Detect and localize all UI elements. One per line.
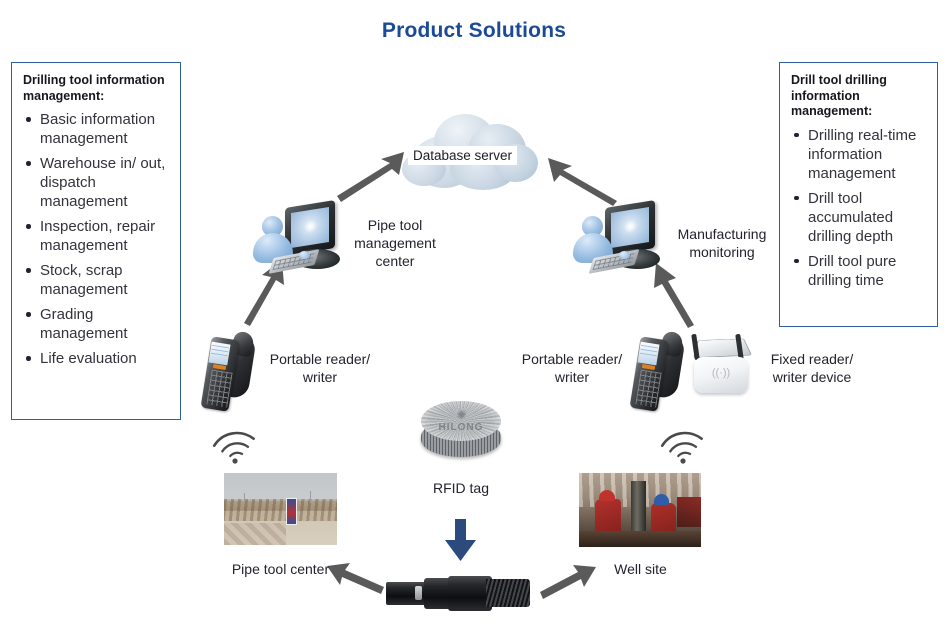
left-box-list: Basic information management Warehouse i… <box>23 110 170 368</box>
portable-reader-writer-label-right: Portable reader/ writer <box>518 350 626 386</box>
workstation-icon <box>572 203 664 279</box>
workstation-icon <box>252 203 344 279</box>
rfid-tag-label: RFID tag <box>411 479 511 497</box>
cloud-icon: Database server <box>398 110 546 194</box>
drill-tool-joint-photo <box>386 571 534 619</box>
right-box-heading: Drill tool drilling information manageme… <box>791 73 927 120</box>
list-item: Life evaluation <box>23 349 170 368</box>
wifi-signal-icon <box>659 420 709 464</box>
fixed-reader-icon: ((·)) <box>690 331 752 401</box>
well-site-photo <box>579 473 701 547</box>
list-item: Drill tool pure drilling time <box>791 252 927 290</box>
list-item: Basic information management <box>23 110 170 148</box>
list-item: Inspection, repair management <box>23 217 170 255</box>
drilling-tool-information-management-box: Drilling tool information management: Ba… <box>11 62 181 420</box>
drill-tool-drilling-information-management-box: Drill tool drilling information manageme… <box>779 62 938 327</box>
arrow-ws-left-to-cloud <box>337 152 404 202</box>
wifi-signal-icon <box>211 420 261 464</box>
rfid-tag-brand: HILONG <box>419 422 503 433</box>
rfid-tag-icon: ✺ HILONG <box>419 395 503 467</box>
manufacturing-monitoring-label: Manufacturing monitoring <box>666 225 778 261</box>
portable-reader-writer-label-left: Portable reader/ writer <box>266 350 374 386</box>
list-item: Grading management <box>23 305 170 343</box>
handheld-reader-icon <box>204 330 256 414</box>
fixed-reader-writer-device-label: Fixed reader/ writer device <box>758 350 866 386</box>
well-site-label: Well site <box>588 560 693 578</box>
pipe-tool-center-label: Pipe tool center <box>213 560 348 578</box>
page-title: Product Solutions <box>0 19 948 43</box>
list-item: Drill tool accumulated drilling depth <box>791 189 927 246</box>
handheld-reader-icon <box>633 330 685 414</box>
pipe-yard-photo <box>224 473 337 545</box>
list-item: Stock, scrap management <box>23 261 170 299</box>
arrow-cloud-to-ws-right <box>548 158 617 206</box>
database-server-label: Database server <box>408 146 517 165</box>
list-item: Drilling real-time information managemen… <box>791 126 927 183</box>
rfid-logo-icon: ((·)) <box>710 367 732 379</box>
list-item: Warehouse in/ out, dispatch management <box>23 154 170 211</box>
diagram-canvas: Product Solutions Drilling tool informat… <box>0 0 948 644</box>
hilong-mark-icon: ✺ <box>455 409 468 421</box>
arrow-rfid-to-drilltool <box>445 519 476 561</box>
pipe-tool-management-center-label: Pipe tool management center <box>340 216 450 270</box>
right-box-list: Drilling real-time information managemen… <box>791 126 927 290</box>
left-box-heading: Drilling tool information management: <box>23 73 170 104</box>
